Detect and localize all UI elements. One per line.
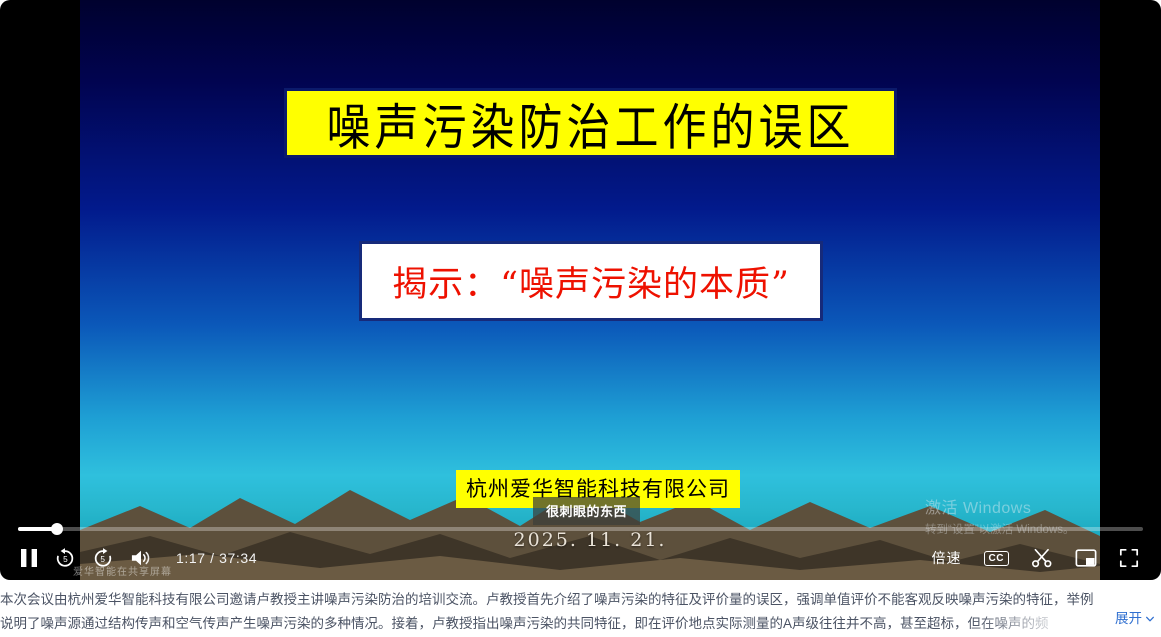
fullscreen-icon[interactable] [1119, 548, 1139, 568]
closed-captions-icon[interactable]: CC [984, 551, 1009, 566]
progress-thumb[interactable] [51, 523, 63, 535]
video-player[interactable]: 噪声污染防治工作的误区 揭示：“噪声污染的本质” 杭州爱华智能科技有限公司 20… [0, 0, 1161, 580]
progress-track[interactable] [18, 527, 1143, 531]
expand-label: 展开 [1115, 607, 1142, 631]
svg-text:5: 5 [63, 555, 68, 564]
controls-right-group: 倍速 CC [932, 547, 1161, 569]
danmaku-comment: 很刺眼的东西 [533, 497, 640, 525]
slide-subtitle-text: 揭示：“噪声污染的本质” [392, 256, 790, 307]
picture-in-picture-icon[interactable] [1075, 548, 1097, 568]
controls-left-group: 5 5 1:17 / 37:34 [0, 547, 257, 569]
forward-5-icon[interactable]: 5 [92, 547, 114, 569]
description-line-1: 本次会议由杭州爱华智能科技有限公司邀请卢教授主讲噪声污染防治的培训交流。卢教授首… [0, 588, 1161, 612]
timecode-label: 1:17 / 37:34 [176, 550, 257, 566]
rewind-5-icon[interactable]: 5 [54, 547, 76, 569]
expand-description-button[interactable]: 展开 [1105, 607, 1155, 631]
volume-icon[interactable] [130, 548, 152, 568]
player-controls: 5 5 1:17 / 37:34 倍速 CC [0, 536, 1161, 580]
pause-icon[interactable] [20, 548, 38, 568]
playback-speed-button[interactable]: 倍速 [932, 548, 962, 568]
slide-subtitle-box: 揭示：“噪声污染的本质” [359, 241, 823, 321]
slide-title-box: 噪声污染防治工作的误区 [284, 88, 897, 158]
progress-bar[interactable] [0, 522, 1161, 536]
description-line-2: 说明了噪声源通过结构传声和空气传声产生噪声污染的多种情况。接着，卢教授指出噪声污… [0, 612, 1105, 636]
chevron-down-icon [1145, 614, 1155, 624]
slide-title-text: 噪声污染防治工作的误区 [327, 87, 855, 159]
video-frame[interactable]: 噪声污染防治工作的误区 揭示：“噪声污染的本质” 杭州爱华智能科技有限公司 20… [80, 0, 1100, 580]
svg-text:5: 5 [100, 555, 105, 564]
video-description: 本次会议由杭州爱华智能科技有限公司邀请卢教授主讲噪声污染防治的培训交流。卢教授首… [0, 580, 1161, 637]
scissors-icon[interactable] [1031, 547, 1053, 569]
